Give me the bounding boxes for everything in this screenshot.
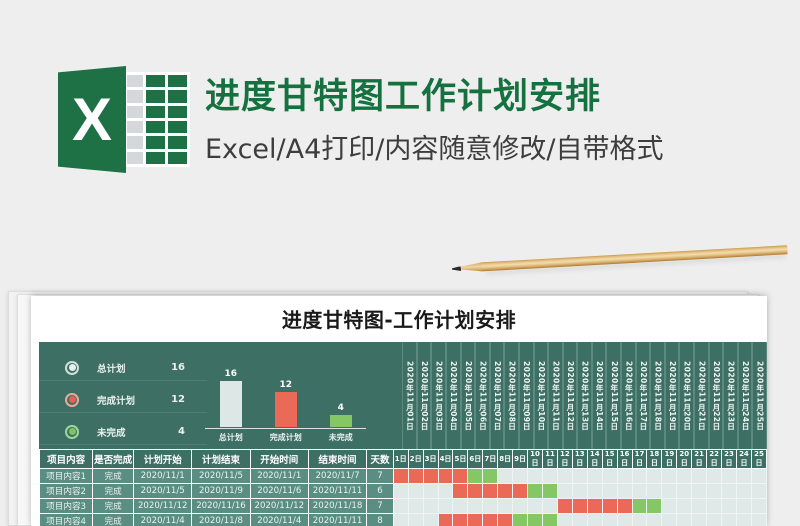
date-column-header: 2020年11月17日 bbox=[636, 342, 651, 449]
gantt-empty-cell bbox=[572, 484, 587, 499]
gantt-empty-cell bbox=[528, 499, 543, 514]
gantt-empty-cell bbox=[677, 484, 692, 499]
day-column-header: 10日 bbox=[528, 450, 543, 469]
date-column-header: 2020年11月19日 bbox=[665, 342, 680, 449]
table-cell: 2020/11/7 bbox=[308, 469, 366, 484]
bar-category-label: 完成计划 bbox=[261, 432, 311, 443]
gantt-plan-cell bbox=[393, 469, 408, 484]
gantt-empty-cell bbox=[587, 484, 602, 499]
day-column-header: 9日 bbox=[513, 450, 528, 469]
table-cell: 7 bbox=[367, 469, 394, 484]
table-cell: 完成 bbox=[93, 469, 134, 484]
day-column-header: 25日 bbox=[751, 450, 766, 469]
gantt-empty-cell bbox=[662, 469, 677, 484]
gantt-actual-cell bbox=[543, 484, 558, 499]
stats-list: 总计划 16 完成计划 12 未完成 4 bbox=[39, 342, 197, 449]
bar-column: 4 bbox=[319, 403, 363, 427]
date-column-header: 2020年11月25日 bbox=[752, 342, 767, 449]
day-column-header: 17日 bbox=[632, 450, 647, 469]
date-column-header: 2020年11月16日 bbox=[621, 342, 636, 449]
gantt-empty-cell bbox=[587, 469, 602, 484]
gantt-empty-cell bbox=[453, 499, 468, 514]
spreadsheet-document: 进度甘特图-工作计划安排 总计划 16 完成计划 12 bbox=[31, 296, 767, 526]
gantt-plan-cell bbox=[423, 469, 438, 484]
gantt-empty-cell bbox=[707, 499, 722, 514]
table-cell: 2020/11/12 bbox=[134, 499, 192, 514]
stat-value-total: 16 bbox=[171, 362, 185, 373]
gantt-plan-cell bbox=[408, 469, 423, 484]
promo-banner: X 进度甘特图工作计划安排 Excel/A4打印/内容随意修改/自带格式 bbox=[0, 0, 800, 250]
day-column-header: 1日 bbox=[393, 450, 408, 469]
gantt-empty-cell bbox=[572, 469, 587, 484]
gantt-empty-cell bbox=[692, 469, 707, 484]
column-header[interactable]: 计划结束 bbox=[192, 450, 250, 469]
day-column-header: 3日 bbox=[423, 450, 438, 469]
gantt-plan-cell bbox=[453, 484, 468, 499]
gantt-empty-cell bbox=[662, 484, 677, 499]
excel-logo-grid bbox=[127, 75, 187, 164]
bar-value-label: 4 bbox=[338, 403, 344, 413]
gantt-plan-cell bbox=[468, 484, 483, 499]
gantt-empty-cell bbox=[751, 484, 766, 499]
gantt-actual-cell bbox=[647, 499, 662, 514]
gantt-empty-cell bbox=[617, 514, 632, 526]
table-cell: 2020/11/4 bbox=[134, 514, 192, 526]
bar-value-label: 12 bbox=[280, 380, 293, 390]
target-circle-green-icon bbox=[65, 425, 79, 439]
table-cell: 完成 bbox=[93, 499, 134, 514]
column-header[interactable]: 计划开始 bbox=[134, 450, 192, 469]
gantt-empty-cell bbox=[393, 514, 408, 526]
table-cell: 完成 bbox=[93, 514, 134, 526]
table-cell: 6 bbox=[367, 484, 394, 499]
gantt-empty-cell bbox=[557, 469, 572, 484]
gantt-empty-cell bbox=[632, 469, 647, 484]
gantt-empty-cell bbox=[736, 514, 751, 526]
day-column-header: 23日 bbox=[722, 450, 737, 469]
gantt-empty-cell bbox=[557, 484, 572, 499]
gantt-actual-cell bbox=[632, 499, 647, 514]
table-cell: 项目内容1 bbox=[40, 469, 93, 484]
bar-category-label: 未完成 bbox=[316, 432, 366, 443]
table-cell: 2020/11/1 bbox=[134, 469, 192, 484]
gantt-empty-cell bbox=[617, 469, 632, 484]
stat-label-done: 完成计划 bbox=[97, 393, 135, 407]
gantt-plan-cell bbox=[617, 499, 632, 514]
gantt-empty-cell bbox=[572, 514, 587, 526]
day-column-header: 16日 bbox=[617, 450, 632, 469]
gantt-empty-cell bbox=[513, 499, 528, 514]
day-column-header: 20日 bbox=[677, 450, 692, 469]
stat-row-todo[interactable]: 未完成 4 bbox=[39, 419, 207, 445]
excel-logo-letter: X bbox=[58, 66, 126, 173]
gantt-empty-cell bbox=[677, 514, 692, 526]
summary-panel: 总计划 16 完成计划 12 未完成 4 16124 bbox=[39, 342, 767, 449]
gantt-empty-cell bbox=[408, 499, 423, 514]
banner-subtitle: Excel/A4打印/内容随意修改/自带格式 bbox=[205, 127, 663, 166]
gantt-empty-cell bbox=[707, 469, 722, 484]
table-row[interactable]: 项目内容1完成2020/11/12020/11/52020/11/12020/1… bbox=[40, 469, 767, 484]
date-column-header: 2020年11月14日 bbox=[592, 342, 607, 449]
gantt-empty-cell bbox=[736, 469, 751, 484]
gantt-empty-cell bbox=[722, 484, 737, 499]
gantt-empty-cell bbox=[513, 469, 528, 484]
gantt-empty-cell bbox=[722, 469, 737, 484]
table-cell: 2020/11/11 bbox=[308, 484, 366, 499]
table-cell: 2020/11/9 bbox=[192, 484, 250, 499]
gantt-empty-cell bbox=[647, 484, 662, 499]
date-column-header: 2020年11月12日 bbox=[563, 342, 578, 449]
gantt-actual-cell bbox=[528, 514, 543, 526]
table-cell: 完成 bbox=[93, 484, 134, 499]
gantt-empty-cell bbox=[468, 499, 483, 514]
day-column-header: 2日 bbox=[408, 450, 423, 469]
table-cell: 2020/11/1 bbox=[250, 469, 308, 484]
table-cell: 项目内容3 bbox=[40, 499, 93, 514]
day-column-header: 7日 bbox=[483, 450, 498, 469]
date-column-header: 2020年11月03日 bbox=[431, 342, 446, 449]
day-column-header: 13日 bbox=[572, 450, 587, 469]
gantt-plan-cell bbox=[453, 514, 468, 526]
gantt-plan-cell bbox=[438, 514, 453, 526]
day-column-header: 19日 bbox=[662, 450, 677, 469]
table-row[interactable]: 项目内容2完成2020/11/52020/11/92020/11/62020/1… bbox=[40, 484, 767, 499]
gantt-plan-cell bbox=[513, 484, 528, 499]
gantt-empty-cell bbox=[722, 514, 737, 526]
gantt-empty-cell bbox=[692, 499, 707, 514]
stat-row-total[interactable]: 总计划 16 bbox=[39, 355, 207, 381]
table-row[interactable]: 项目内容4完成2020/11/42020/11/82020/11/42020/1… bbox=[40, 514, 767, 526]
day-column-header: 5日 bbox=[453, 450, 468, 469]
column-header[interactable]: 天数 bbox=[367, 450, 394, 469]
gantt-empty-cell bbox=[736, 484, 751, 499]
column-header[interactable]: 是否完成 bbox=[93, 450, 134, 469]
date-column-header: 2020年11月15日 bbox=[606, 342, 621, 449]
gantt-plan-cell bbox=[468, 514, 483, 526]
day-column-header: 14日 bbox=[587, 450, 602, 469]
column-header[interactable]: 开始时间 bbox=[250, 450, 308, 469]
day-column-header: 22日 bbox=[707, 450, 722, 469]
day-column-header: 4日 bbox=[438, 450, 453, 469]
summary-bar-chart: 16124 总计划完成计划未完成 bbox=[197, 342, 362, 449]
gantt-empty-cell bbox=[632, 514, 647, 526]
gantt-actual-cell bbox=[483, 469, 498, 484]
gantt-empty-cell bbox=[632, 484, 647, 499]
day-column-header: 12日 bbox=[557, 450, 572, 469]
table-cell: 2020/11/4 bbox=[250, 514, 308, 526]
excel-logo-icon: X bbox=[58, 62, 190, 177]
table-cell: 7 bbox=[367, 499, 394, 514]
gantt-actual-cell bbox=[543, 514, 558, 526]
gantt-empty-cell bbox=[602, 469, 617, 484]
gantt-empty-cell bbox=[617, 484, 632, 499]
gantt-actual-cell bbox=[528, 484, 543, 499]
table-cell: 8 bbox=[367, 514, 394, 526]
gantt-empty-cell bbox=[602, 514, 617, 526]
column-header[interactable]: 项目内容 bbox=[40, 450, 93, 469]
stat-label-total: 总计划 bbox=[97, 361, 126, 375]
gantt-empty-cell bbox=[438, 499, 453, 514]
gantt-empty-cell bbox=[602, 484, 617, 499]
date-column-header: 2020年11月07日 bbox=[490, 342, 505, 449]
gantt-empty-cell bbox=[662, 499, 677, 514]
table-cell: 项目内容2 bbox=[40, 484, 93, 499]
table-header-row: 项目内容是否完成计划开始计划结束开始时间结束时间天数1日2日3日4日5日6日7日… bbox=[40, 450, 767, 469]
date-column-header: 2020年11月08日 bbox=[504, 342, 519, 449]
stat-value-todo: 4 bbox=[178, 426, 185, 437]
chart-x-axis bbox=[205, 428, 366, 429]
gantt-empty-cell bbox=[498, 469, 513, 484]
stat-value-done: 12 bbox=[171, 394, 185, 405]
table-cell: 2020/11/18 bbox=[308, 499, 366, 514]
bar bbox=[275, 392, 297, 427]
gantt-empty-cell bbox=[543, 469, 558, 484]
gantt-empty-cell bbox=[751, 469, 766, 484]
gantt-empty-cell bbox=[408, 484, 423, 499]
table-cell: 2020/11/8 bbox=[192, 514, 250, 526]
bar-column: 16 bbox=[209, 369, 253, 427]
day-column-header: 24日 bbox=[736, 450, 751, 469]
spreadsheet-area: 总计划 16 完成计划 12 未完成 4 16124 bbox=[39, 342, 767, 526]
table-cell: 2020/11/12 bbox=[250, 499, 308, 514]
bar-category-label: 总计划 bbox=[206, 432, 256, 443]
gantt-empty-cell bbox=[751, 514, 766, 526]
gantt-empty-cell bbox=[662, 514, 677, 526]
day-column-header: 15日 bbox=[602, 450, 617, 469]
day-column-header: 18日 bbox=[647, 450, 662, 469]
gantt-plan-cell bbox=[453, 469, 468, 484]
gantt-empty-cell bbox=[587, 514, 602, 526]
gantt-empty-cell bbox=[543, 499, 558, 514]
gantt-empty-cell bbox=[647, 469, 662, 484]
gantt-empty-cell bbox=[438, 484, 453, 499]
gantt-empty-cell bbox=[393, 499, 408, 514]
date-column-header: 2020年11月23日 bbox=[723, 342, 738, 449]
table-cell: 2020/11/16 bbox=[192, 499, 250, 514]
day-column-header: 8日 bbox=[498, 450, 513, 469]
gantt-empty-cell bbox=[707, 514, 722, 526]
gantt-empty-cell bbox=[751, 499, 766, 514]
bar-value-label: 16 bbox=[225, 369, 238, 379]
gantt-empty-cell bbox=[423, 514, 438, 526]
table-row[interactable]: 项目内容3完成2020/11/122020/11/162020/11/12202… bbox=[40, 499, 767, 514]
table-cell: 项目内容4 bbox=[40, 514, 93, 526]
stat-row-done[interactable]: 完成计划 12 bbox=[39, 387, 207, 413]
table-cell: 2020/11/5 bbox=[192, 469, 250, 484]
gantt-plan-cell bbox=[587, 499, 602, 514]
date-column-header: 2020年11月20日 bbox=[679, 342, 694, 449]
date-column-header: 2020年11月09日 bbox=[519, 342, 534, 449]
gantt-plan-cell bbox=[498, 484, 513, 499]
date-column-header: 2020年11月21日 bbox=[694, 342, 709, 449]
gantt-empty-cell bbox=[483, 499, 498, 514]
table-cell: 2020/11/11 bbox=[308, 514, 366, 526]
target-circle-white-icon bbox=[65, 361, 79, 375]
document-title: 进度甘特图-工作计划安排 bbox=[31, 304, 767, 333]
gantt-plan-cell bbox=[483, 514, 498, 526]
day-column-header: 6日 bbox=[468, 450, 483, 469]
day-column-header: 11日 bbox=[543, 450, 558, 469]
gantt-empty-cell bbox=[677, 469, 692, 484]
banner-title: 进度甘特图工作计划安排 bbox=[205, 68, 601, 119]
date-column-header: 2020年11月01日 bbox=[402, 342, 417, 449]
gantt-empty-cell bbox=[393, 484, 408, 499]
gantt-empty-cell bbox=[557, 514, 572, 526]
gantt-empty-cell bbox=[423, 484, 438, 499]
gantt-empty-cell bbox=[528, 469, 543, 484]
date-column-header: 2020年11月24日 bbox=[738, 342, 753, 449]
target-circle-red-icon bbox=[65, 393, 79, 407]
gantt-actual-cell bbox=[513, 514, 528, 526]
table-cell: 2020/11/6 bbox=[250, 484, 308, 499]
gantt-plan-cell bbox=[557, 499, 572, 514]
gantt-actual-cell bbox=[468, 469, 483, 484]
gantt-empty-cell bbox=[498, 499, 513, 514]
gantt-table: 项目内容是否完成计划开始计划结束开始时间结束时间天数1日2日3日4日5日6日7日… bbox=[39, 449, 767, 526]
date-column-header: 2020年11月22日 bbox=[709, 342, 724, 449]
gantt-empty-cell bbox=[722, 499, 737, 514]
gantt-plan-cell bbox=[438, 469, 453, 484]
column-header[interactable]: 结束时间 bbox=[308, 450, 366, 469]
day-column-header: 21日 bbox=[692, 450, 707, 469]
date-column-header: 2020年11月18日 bbox=[650, 342, 665, 449]
date-column-headers: 2020年11月01日2020年11月02日2020年11月03日2020年11… bbox=[402, 342, 767, 449]
date-column-header: 2020年11月02日 bbox=[417, 342, 432, 449]
gantt-plan-cell bbox=[572, 499, 587, 514]
bar-column: 12 bbox=[264, 380, 308, 427]
stat-label-todo: 未完成 bbox=[97, 425, 126, 439]
bar bbox=[220, 381, 242, 427]
screenshot-stage: X 进度甘特图工作计划安排 Excel/A4打印/内容随意修改/自带格式 进度甘… bbox=[0, 0, 800, 526]
gantt-empty-cell bbox=[677, 499, 692, 514]
date-column-header: 2020年11月10日 bbox=[534, 342, 549, 449]
gantt-empty-cell bbox=[423, 499, 438, 514]
date-column-header: 2020年11月06日 bbox=[475, 342, 490, 449]
gantt-plan-cell bbox=[483, 484, 498, 499]
gantt-empty-cell bbox=[736, 499, 751, 514]
gantt-empty-cell bbox=[692, 484, 707, 499]
date-column-header: 2020年11月04日 bbox=[446, 342, 461, 449]
bar bbox=[330, 415, 352, 427]
date-column-header: 2020年11月13日 bbox=[577, 342, 592, 449]
gantt-empty-cell bbox=[707, 484, 722, 499]
date-column-header: 2020年11月11日 bbox=[548, 342, 563, 449]
date-column-header: 2020年11月05日 bbox=[461, 342, 476, 449]
gantt-empty-cell bbox=[647, 514, 662, 526]
gantt-plan-cell bbox=[498, 514, 513, 526]
table-cell: 2020/11/5 bbox=[134, 484, 192, 499]
gantt-empty-cell bbox=[408, 514, 423, 526]
gantt-plan-cell bbox=[602, 499, 617, 514]
gantt-empty-cell bbox=[692, 514, 707, 526]
